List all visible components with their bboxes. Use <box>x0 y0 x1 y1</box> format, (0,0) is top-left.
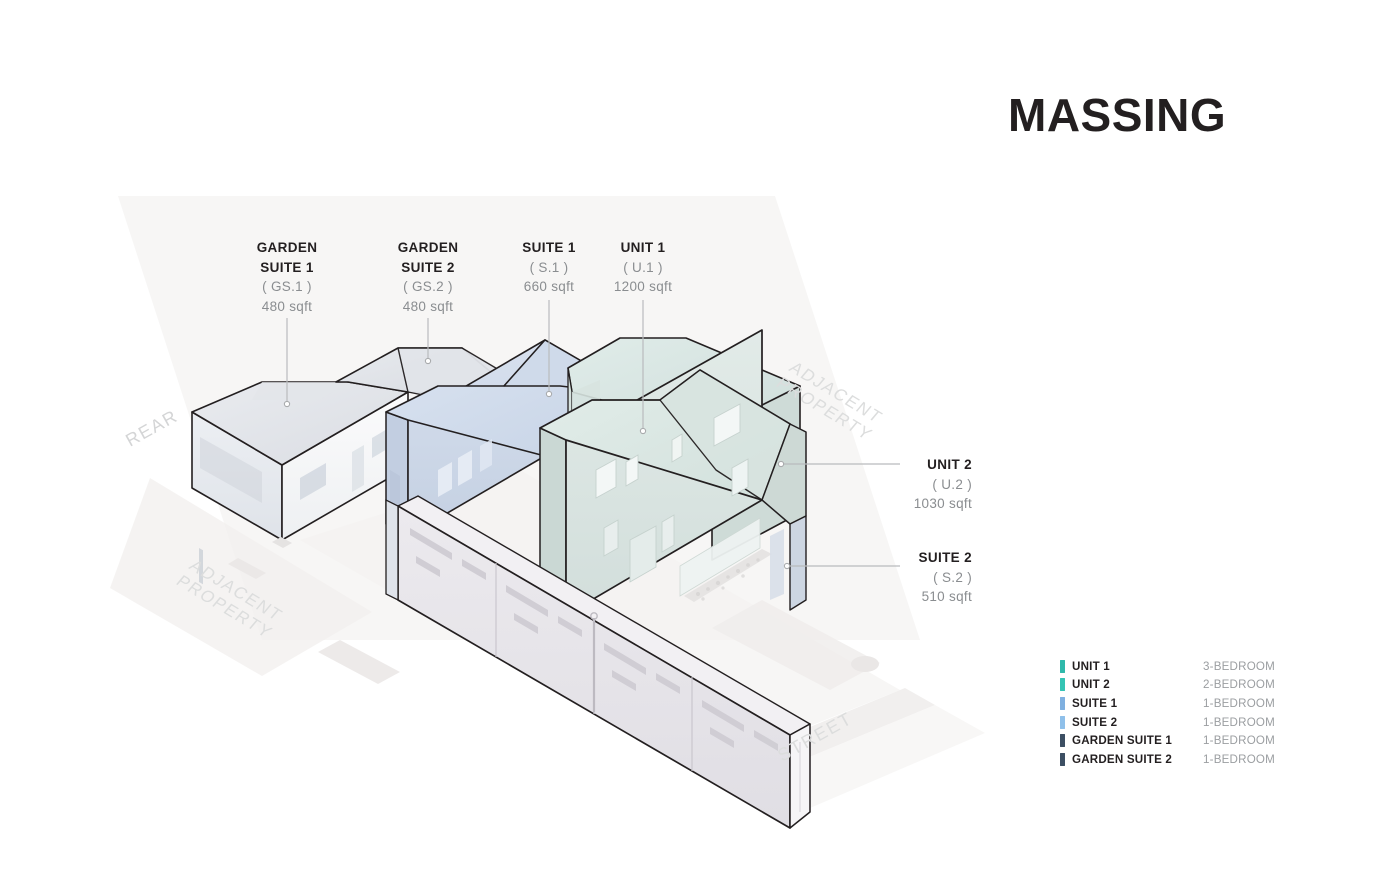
callout-u1-area: 1200 sqft <box>593 277 693 297</box>
legend-name-garden-suite-2: GARDEN SUITE 2 <box>1072 753 1172 766</box>
callout-s2-code: ( S.2 ) <box>852 568 972 588</box>
callout-unit-1: UNIT 1 ( U.1 ) 1200 sqft <box>593 238 693 297</box>
callout-s1-name: SUITE 1 <box>499 238 599 258</box>
legend-row-unit-2[interactable]: UNIT 2 2-BEDROOM <box>1060 676 1275 695</box>
legend-swatch-garden-suite-1 <box>1060 734 1065 747</box>
callout-gs1-code: ( GS.1 ) <box>227 277 347 297</box>
callout-gs1-name-line2: SUITE 1 <box>227 258 347 278</box>
callout-gs2-area: 480 sqft <box>368 297 488 317</box>
callout-u2-area: 1030 sqft <box>852 494 972 514</box>
legend-name-suite-2: SUITE 2 <box>1072 716 1117 729</box>
legend-bedrooms-suite-1: 1-BEDROOM <box>1203 697 1275 710</box>
callout-s2-area: 510 sqft <box>852 587 972 607</box>
legend-swatch-garden-suite-2 <box>1060 753 1065 766</box>
legend-bedrooms-unit-2: 2-BEDROOM <box>1203 678 1275 691</box>
callout-unit-2: UNIT 2 ( U.2 ) 1030 sqft <box>852 455 972 514</box>
massing-diagram-page: MASSING <box>0 0 1380 880</box>
callout-s2-name: SUITE 2 <box>852 548 972 568</box>
callout-u1-name: UNIT 1 <box>593 238 693 258</box>
legend-row-suite-2[interactable]: SUITE 2 1-BEDROOM <box>1060 713 1275 732</box>
callout-u2-name: UNIT 2 <box>852 455 972 475</box>
callout-suite-1: SUITE 1 ( S.1 ) 660 sqft <box>499 238 599 297</box>
legend-swatch-unit-2 <box>1060 678 1065 691</box>
legend-bedrooms-suite-2: 1-BEDROOM <box>1203 716 1275 729</box>
callout-s1-area: 660 sqft <box>499 277 599 297</box>
legend-row-unit-1[interactable]: UNIT 1 3-BEDROOM <box>1060 657 1275 676</box>
legend-bedrooms-garden-suite-1: 1-BEDROOM <box>1203 734 1275 747</box>
callout-suite-2: SUITE 2 ( S.2 ) 510 sqft <box>852 548 972 607</box>
callout-s1-code: ( S.1 ) <box>499 258 599 278</box>
callout-garden-suite-1: GARDEN SUITE 1 ( GS.1 ) 480 sqft <box>227 238 347 316</box>
legend-name-garden-suite-1: GARDEN SUITE 1 <box>1072 734 1172 747</box>
legend: UNIT 1 3-BEDROOM UNIT 2 2-BEDROOM SUITE … <box>1060 657 1275 769</box>
legend-name-unit-2: UNIT 2 <box>1072 678 1110 691</box>
callout-gs1-area: 480 sqft <box>227 297 347 317</box>
callout-gs2-code: ( GS.2 ) <box>368 277 488 297</box>
legend-name-unit-1: UNIT 1 <box>1072 660 1110 673</box>
callout-u1-code: ( U.1 ) <box>593 258 693 278</box>
legend-bedrooms-unit-1: 3-BEDROOM <box>1203 660 1275 673</box>
legend-row-garden-suite-2[interactable]: GARDEN SUITE 2 1-BEDROOM <box>1060 750 1275 769</box>
context-rear-text: REAR <box>122 406 181 451</box>
callout-u2-code: ( U.2 ) <box>852 475 972 495</box>
callout-gs1-name-line1: GARDEN <box>227 238 347 258</box>
callout-garden-suite-2: GARDEN SUITE 2 ( GS.2 ) 480 sqft <box>368 238 488 316</box>
context-label-rear: REAR <box>122 406 181 451</box>
legend-row-garden-suite-1[interactable]: GARDEN SUITE 1 1-BEDROOM <box>1060 731 1275 750</box>
callout-gs2-name-line2: SUITE 2 <box>368 258 488 278</box>
legend-swatch-unit-1 <box>1060 660 1065 673</box>
legend-swatch-suite-2 <box>1060 716 1065 729</box>
legend-bedrooms-garden-suite-2: 1-BEDROOM <box>1203 753 1275 766</box>
legend-swatch-suite-1 <box>1060 697 1065 710</box>
callout-gs2-name-line1: GARDEN <box>368 238 488 258</box>
legend-name-suite-1: SUITE 1 <box>1072 697 1117 710</box>
legend-row-suite-1[interactable]: SUITE 1 1-BEDROOM <box>1060 694 1275 713</box>
